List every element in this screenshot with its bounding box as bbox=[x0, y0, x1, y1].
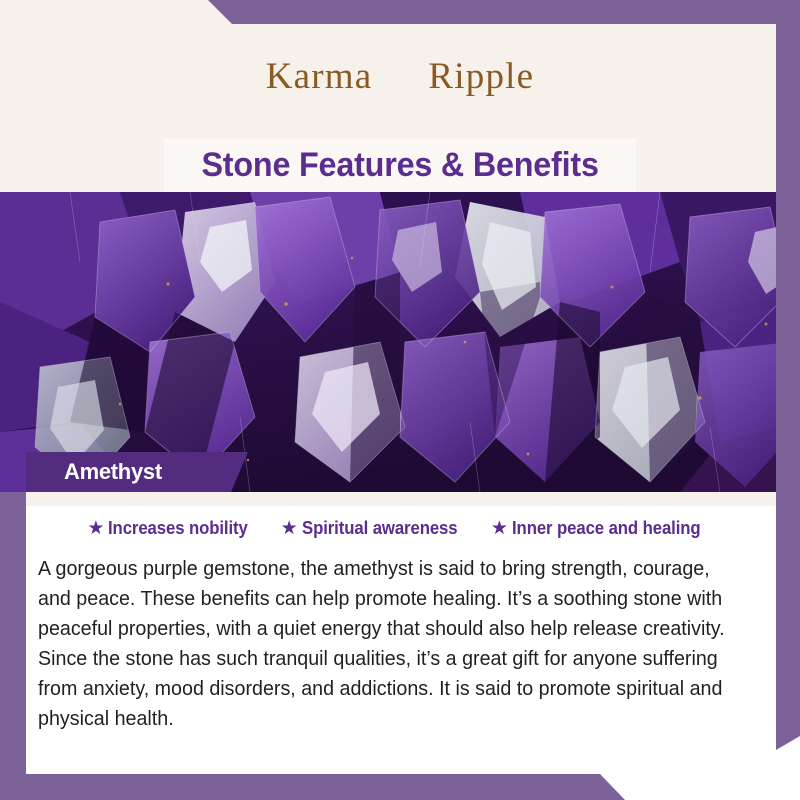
infographic-page: Karma Ripple Stone Features & Benefits bbox=[0, 0, 800, 800]
brand-name-right: Ripple bbox=[428, 55, 534, 98]
brand-name-left: Karma bbox=[266, 55, 373, 98]
benefit-label: Increases nobility bbox=[108, 518, 248, 539]
star-icon: ★ bbox=[491, 519, 508, 538]
page-title: Stone Features & Benefits bbox=[201, 146, 598, 185]
star-icon: ★ bbox=[281, 519, 298, 538]
frame-bottom-bar bbox=[0, 774, 640, 800]
frame-right-bar bbox=[776, 0, 800, 736]
stone-description: A gorgeous purple gemstone, the amethyst… bbox=[38, 554, 739, 734]
benefit-item: ★ Spiritual awareness bbox=[281, 518, 469, 539]
hero-image-amethyst bbox=[0, 192, 800, 492]
frame-right-tip bbox=[776, 736, 800, 750]
benefit-item: ★ Increases nobility bbox=[87, 518, 258, 539]
benefit-label: Inner peace and healing bbox=[512, 518, 701, 539]
page-title-plate: Stone Features & Benefits bbox=[164, 138, 636, 192]
benefit-label: Spiritual awareness bbox=[302, 518, 457, 539]
stone-name-label: Amethyst bbox=[26, 459, 162, 485]
benefit-item: ★ Inner peace and healing bbox=[491, 518, 715, 539]
frame-left-bar bbox=[0, 492, 26, 800]
star-icon: ★ bbox=[87, 519, 104, 538]
content-top-strip bbox=[26, 492, 776, 506]
benefits-list: ★ Increases nobility ★ Spiritual awarene… bbox=[26, 518, 776, 539]
amethyst-crystal-illustration bbox=[0, 192, 800, 492]
content-panel: ★ Increases nobility ★ Spiritual awarene… bbox=[26, 492, 776, 774]
stone-name-banner: Amethyst bbox=[26, 452, 248, 492]
